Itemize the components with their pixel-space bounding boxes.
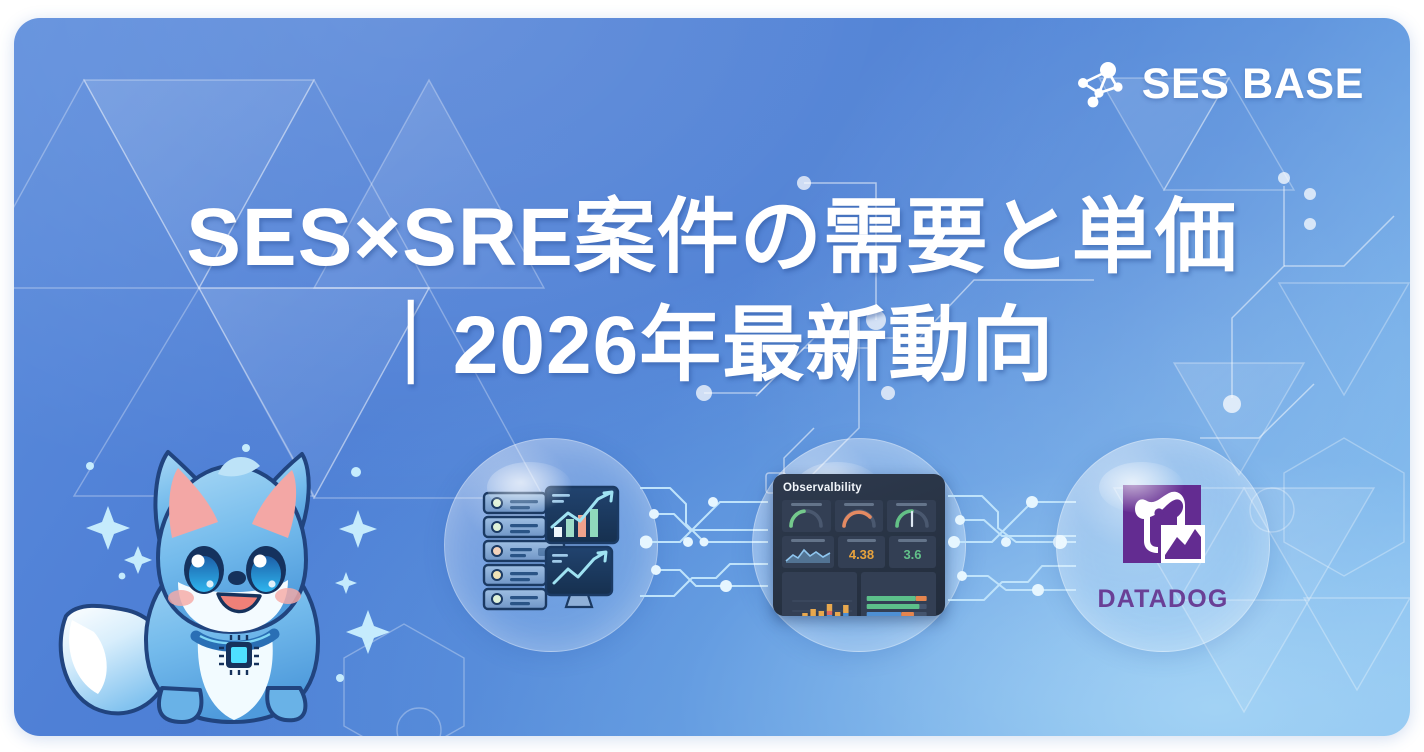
page-frame: SES BASE SES×SRE案件の需要と単価 ｜2026年最新動向 bbox=[0, 0, 1424, 752]
tile-caption bbox=[898, 539, 928, 542]
datadog-wordmark: DATADOG bbox=[1097, 587, 1228, 612]
blue-fox-mascot bbox=[50, 430, 390, 730]
gauge-needle-icon bbox=[893, 508, 931, 528]
tile-caption bbox=[896, 503, 927, 506]
visual-row: Observalbility bbox=[14, 422, 1410, 736]
sparkline-area-icon bbox=[785, 544, 831, 564]
gauge-tile-1 bbox=[782, 500, 831, 532]
dashboard-values-row: 4.38 3.6 bbox=[782, 536, 936, 568]
tile-caption bbox=[844, 503, 875, 506]
bubble-dashboard[interactable]: Observalbility bbox=[752, 438, 966, 652]
sparkline-tile bbox=[782, 536, 834, 568]
tile-caption bbox=[791, 503, 822, 506]
gauge-green-icon bbox=[787, 508, 825, 528]
metric-value-green: 3.6 bbox=[903, 544, 921, 566]
dashboard-gauges-row bbox=[782, 500, 936, 532]
stacked-bar-chart-icon bbox=[785, 593, 854, 616]
metric-tile-green: 3.6 bbox=[889, 536, 936, 568]
stacked-bar-panel bbox=[782, 572, 857, 616]
network-nodes-icon bbox=[1072, 56, 1128, 112]
gauge-tile-3 bbox=[887, 500, 936, 532]
tile-caption bbox=[791, 539, 824, 542]
page-title: SES×SRE案件の需要と単価 ｜2026年最新動向 bbox=[14, 184, 1410, 400]
brand-logo[interactable]: SES BASE bbox=[1072, 56, 1364, 112]
bubble-datadog[interactable]: DATADOG bbox=[1056, 438, 1270, 652]
metric-tile-amber: 4.38 bbox=[838, 536, 885, 568]
dashboard-title: Observalbility bbox=[783, 482, 936, 494]
gauge-orange-icon bbox=[840, 508, 878, 528]
bar-list-panel bbox=[861, 572, 936, 616]
headline-line-1: SES×SRE案件の需要と単価 bbox=[14, 184, 1410, 292]
hero-card: SES BASE SES×SRE案件の需要と単価 ｜2026年最新動向 bbox=[14, 18, 1410, 736]
datadog-brand: DATADOG bbox=[1097, 479, 1228, 612]
circuit-connector-left bbox=[640, 466, 768, 616]
dashboard-charts-row bbox=[782, 572, 936, 616]
bubble-servers[interactable] bbox=[444, 438, 658, 652]
brand-name: SES BASE bbox=[1142, 63, 1364, 106]
horizontal-bar-list-icon bbox=[864, 593, 933, 616]
datadog-logo-icon bbox=[1111, 479, 1215, 583]
gauge-tile-2 bbox=[835, 500, 884, 532]
headline-line-2: ｜2026年最新動向 bbox=[14, 292, 1410, 400]
observability-dashboard[interactable]: Observalbility bbox=[773, 474, 945, 616]
metric-value-amber: 4.38 bbox=[849, 544, 874, 566]
tile-caption bbox=[847, 539, 877, 542]
server-rack-monitoring-icon bbox=[476, 475, 626, 615]
